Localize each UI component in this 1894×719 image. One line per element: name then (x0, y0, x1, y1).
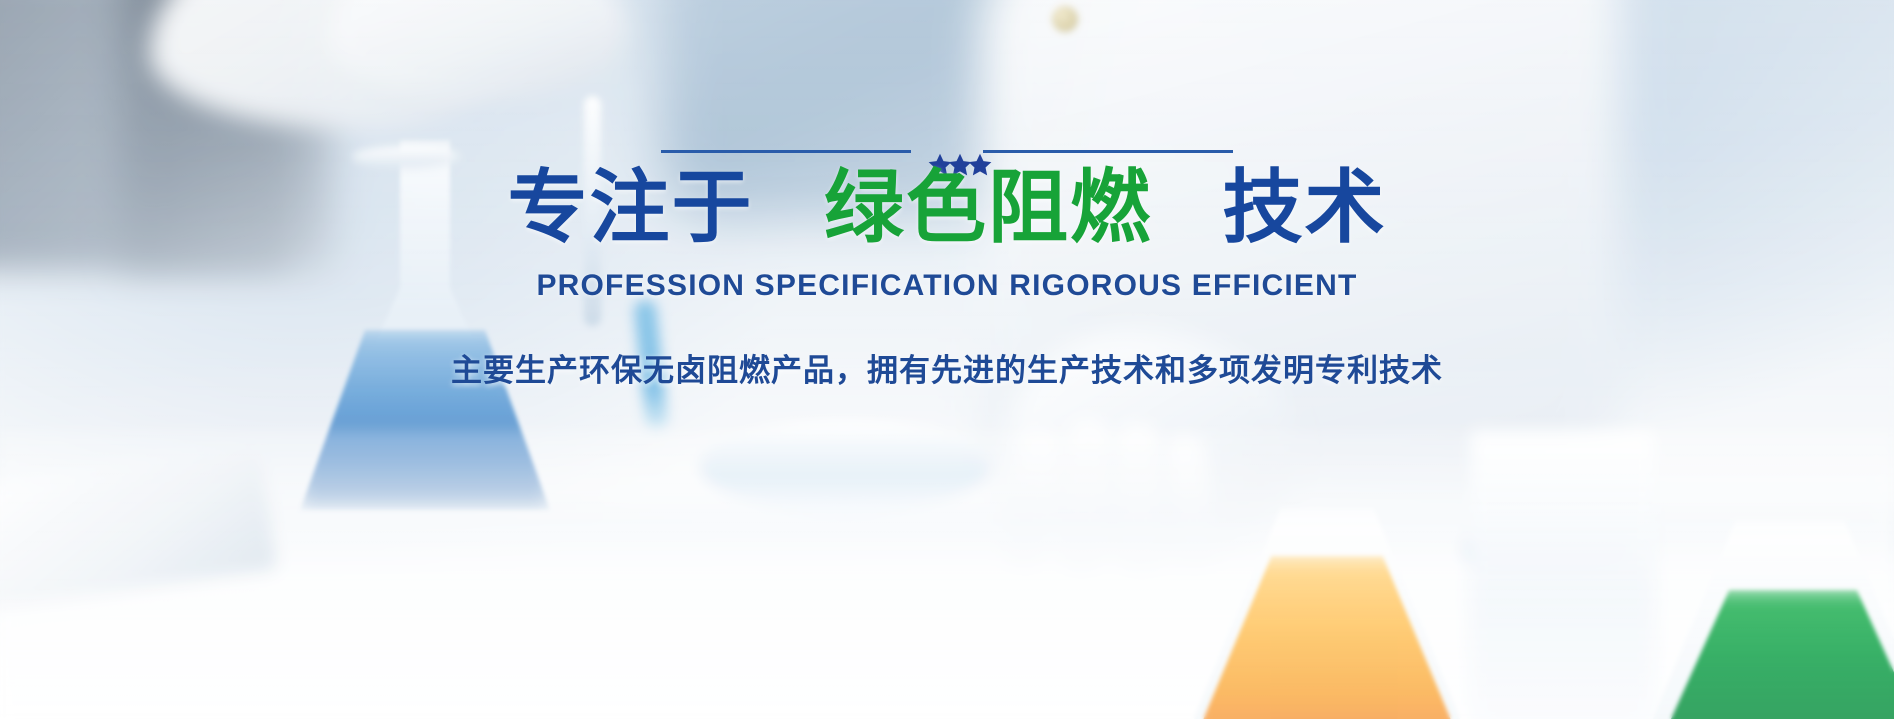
divider-ornament (661, 150, 1233, 153)
tagline-chinese: 主要生产环保无卤阻燃产品，拥有先进的生产技术和多项发明专利技术 (451, 345, 1443, 390)
hero-banner: 专注于 绿色阻燃 技术 PROFESSION SPECIFICATION RIG… (0, 0, 1894, 719)
page-title: 专注于 绿色阻燃 技术 (508, 167, 1387, 249)
subtitle-english: PROFESSION SPECIFICATION RIGOROUS EFFICI… (536, 269, 1357, 303)
banner-content: 专注于 绿色阻燃 技术 PROFESSION SPECIFICATION RIG… (0, 150, 1894, 390)
divider-rule-left (661, 150, 911, 153)
headline-part-two: 绿色阻燃 (824, 163, 1152, 252)
headline-part-three: 技术 (1222, 163, 1386, 252)
headline-part-one: 专注于 (508, 163, 754, 252)
divider-rule-right (983, 150, 1233, 153)
